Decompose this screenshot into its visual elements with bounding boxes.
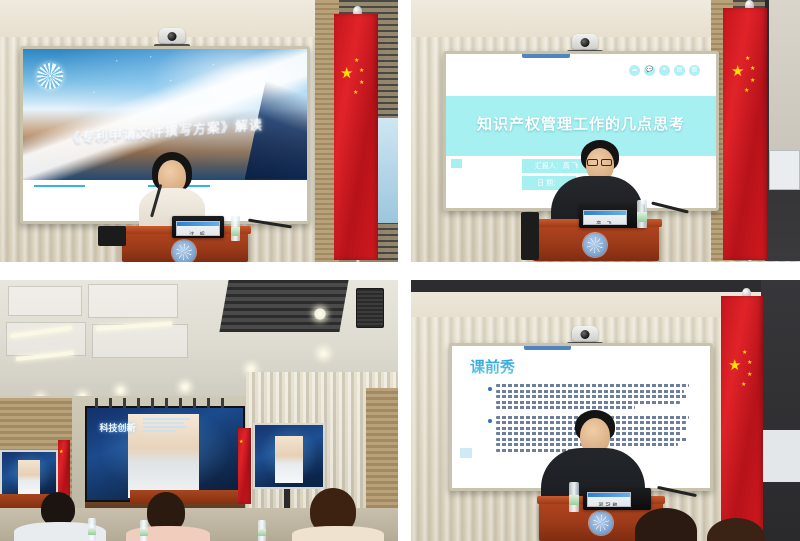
nameplate-text: 沈 超 — [189, 231, 206, 236]
flag-star-large: ★ — [340, 66, 353, 81]
text-line — [143, 426, 187, 428]
text-line — [496, 395, 687, 398]
text-line — [496, 406, 635, 409]
flag-star-large: ★ — [728, 358, 741, 373]
downlight — [314, 308, 326, 320]
stage-table — [130, 490, 238, 504]
downlight — [318, 348, 329, 359]
stage-rigging — [95, 398, 235, 408]
text-line — [496, 390, 683, 393]
remote-presenter-video — [18, 460, 40, 495]
nameplate: 高 飞 — [583, 210, 627, 225]
adjacent-board-edge — [763, 430, 800, 482]
cloud-icon: ☁ — [629, 65, 640, 76]
chat-icon: 💬 — [644, 65, 655, 76]
ceiling-tile — [8, 286, 82, 316]
flag-star-small-4: ★ — [744, 88, 749, 94]
led-wall-caption: 科技创新 — [99, 421, 135, 434]
flag-star-small-4: ★ — [353, 90, 358, 96]
ceiling-vent-slats — [219, 280, 348, 332]
nameplate: 邵冠鹏 — [587, 492, 631, 507]
downlight — [116, 386, 125, 395]
dark-wall-right — [761, 280, 800, 541]
slide-left-tag — [460, 448, 472, 458]
chinese-national-flag-stage-right: ★ — [238, 428, 251, 504]
institution-seal-icon — [583, 233, 607, 257]
doc-icon: ▥ — [689, 65, 700, 76]
podium — [533, 225, 659, 261]
bottle-label — [231, 227, 240, 236]
flag-star: ★ — [59, 450, 63, 455]
bullet-dot-icon — [488, 387, 492, 391]
audience-head — [41, 492, 75, 526]
chart-icon: ▤ — [674, 65, 685, 76]
water-bottle — [140, 520, 148, 541]
water-bottle — [569, 482, 579, 512]
water-bottle — [637, 200, 647, 228]
board-brand-bar — [522, 53, 571, 58]
panel-speaker-man-at-podium[interactable]: ☁ 💬 ✦ ▤ ▥ 知识产权管理工作的几点思考 汇报人：高 飞 日 期： — [411, 0, 800, 262]
slide-left-tag — [451, 159, 462, 168]
ceiling-tile — [88, 284, 178, 318]
adjacent-board-edge — [769, 150, 800, 190]
water-bottle — [258, 520, 266, 541]
eyeglasses-right — [601, 159, 612, 166]
text-line — [143, 418, 190, 420]
conference-camera-icon — [159, 28, 185, 43]
chinese-national-flag: ★ ★ ★ ★ ★ — [721, 296, 763, 540]
side-display-left[interactable] — [0, 450, 58, 500]
nameplate-text: 邵冠鹏 — [598, 502, 619, 507]
eyeglasses-left — [587, 159, 598, 166]
bullet-text — [496, 384, 689, 412]
institution-seal-icon — [589, 511, 613, 535]
panel-speaker-woman-at-podium[interactable]: 《专利申请文件撰写方案》解读 沈 超 ★ ★ ★ — [0, 0, 398, 262]
flag-star-small-1: ★ — [354, 58, 359, 64]
flag-star-small-2: ★ — [359, 68, 364, 74]
bullet-dot-icon — [488, 419, 492, 423]
photo-collage: 《专利申请文件撰写方案》解读 沈 超 ★ ★ ★ — [0, 0, 800, 541]
bottle-label — [88, 528, 96, 535]
flag-star-small-2: ★ — [747, 360, 752, 366]
side-display-right[interactable] — [253, 423, 325, 489]
chinese-national-flag: ★ ★ ★ ★ ★ — [723, 8, 767, 260]
nameplate-header-bar — [588, 493, 630, 497]
bottle-label — [569, 495, 579, 505]
chinese-national-flag-stage-left: ★ — [58, 440, 70, 498]
nameplate-header-bar — [177, 222, 219, 226]
nameplate-header-bar — [584, 211, 626, 215]
institution-seal-icon — [172, 240, 196, 262]
nameplate-text: 高 飞 — [596, 220, 613, 225]
panel-conference-hall-video-session[interactable]: 科技创新 ★ ★ — [0, 280, 398, 541]
adjacent-curtain — [769, 0, 800, 150]
flag-star: ★ — [239, 440, 243, 445]
remote-presenter-video — [275, 436, 302, 483]
swirl-circle-logo-icon — [37, 63, 63, 89]
text-line — [496, 449, 573, 452]
bottle-label — [637, 212, 647, 222]
chinese-national-flag: ★ ★ ★ ★ ★ — [334, 14, 378, 260]
bottle-label — [258, 529, 266, 536]
hall-wall-wood-right — [366, 388, 398, 508]
equipment-box — [98, 226, 126, 246]
flag-star-small-2: ★ — [750, 66, 755, 72]
nameplate: 沈 超 — [176, 221, 220, 236]
slide-title: 课前秀 — [470, 356, 515, 377]
ceiling-speaker — [356, 288, 384, 328]
board-brand-bar — [524, 345, 570, 350]
flag-star-small-3: ★ — [359, 80, 364, 86]
water-bottle — [88, 518, 96, 540]
water-bottle — [231, 216, 240, 241]
led-video-wall[interactable]: 科技创新 — [85, 406, 245, 502]
audience-body — [292, 526, 384, 541]
audience-body — [126, 526, 210, 541]
conference-camera-icon — [572, 34, 598, 49]
text-line — [496, 401, 680, 404]
text-line — [143, 422, 184, 424]
share-icon: ✦ — [659, 65, 670, 76]
downlight — [180, 382, 190, 392]
flag-star-small-3: ★ — [747, 372, 752, 378]
flag-star-large: ★ — [731, 64, 744, 79]
flag-star-small-3: ★ — [750, 78, 755, 84]
accent-strip-left — [34, 185, 85, 187]
flag-star-small-1: ★ — [745, 56, 750, 62]
slide-title: 知识产权管理工作的几点思考 — [446, 113, 716, 134]
bullet-item — [488, 384, 689, 412]
equipment-stand — [521, 212, 539, 260]
flag-star-small-1: ★ — [742, 350, 747, 356]
text-line — [143, 430, 176, 432]
flag-star-small-4: ★ — [741, 382, 746, 388]
conference-camera-icon — [572, 326, 598, 341]
led-wall-side-text — [143, 418, 190, 434]
text-line — [496, 384, 689, 387]
bottle-label — [140, 529, 148, 536]
panel-speaker-man-lecture[interactable]: 课前秀 — [411, 280, 800, 541]
slide-icon-row: ☁ 💬 ✦ ▤ ▥ — [629, 65, 700, 76]
ceiling-tile — [6, 322, 86, 356]
